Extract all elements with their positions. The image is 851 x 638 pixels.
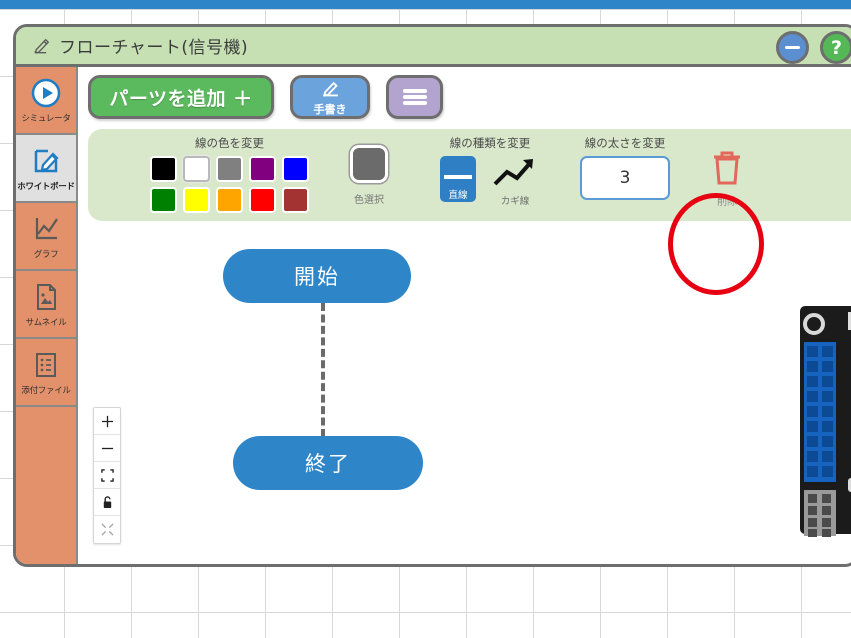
color-swatch-white[interactable] bbox=[183, 156, 210, 182]
color-swatch-grid bbox=[150, 156, 309, 213]
flow-node-label: 終了 bbox=[305, 448, 351, 478]
connector-line[interactable] bbox=[321, 303, 325, 437]
straight-line-label: 直線 bbox=[440, 187, 476, 201]
minus-icon bbox=[101, 442, 114, 455]
line-chart-icon bbox=[29, 212, 63, 246]
line-thickness-group: 線の太さを変更 3 bbox=[580, 135, 670, 200]
pencil-icon bbox=[32, 36, 52, 56]
line-color-group: 線の色を変更 bbox=[150, 135, 309, 213]
sidebar-item-label: 添付ファイル bbox=[21, 384, 70, 396]
fit-to-view-button[interactable] bbox=[94, 462, 120, 489]
line-type-elbow-option[interactable]: カギ線 bbox=[490, 156, 540, 207]
window-body: シミュレータ ホワイトボード bbox=[16, 67, 851, 567]
color-picker-label: 色選択 bbox=[354, 191, 384, 206]
color-swatch-red[interactable] bbox=[249, 187, 276, 213]
color-swatch-orange[interactable] bbox=[216, 187, 243, 213]
sidebar-item-graph[interactable]: グラフ bbox=[16, 203, 76, 271]
lock-button[interactable] bbox=[94, 489, 120, 516]
flow-node-start[interactable]: 開始 bbox=[223, 249, 411, 303]
line-type-straight-option[interactable]: 直線 bbox=[440, 156, 476, 202]
line-thickness-title: 線の太さを変更 bbox=[580, 135, 670, 151]
menu-bar bbox=[403, 95, 427, 99]
color-swatch-row bbox=[150, 156, 309, 182]
flow-node-end[interactable]: 終了 bbox=[233, 436, 423, 490]
minimize-button[interactable] bbox=[776, 31, 809, 64]
color-swatch-yellow[interactable] bbox=[183, 187, 210, 213]
sidebar-item-whiteboard[interactable]: ホワイトボード bbox=[16, 135, 76, 203]
expand-frame-icon bbox=[101, 469, 114, 482]
elbow-line-label: カギ線 bbox=[490, 193, 540, 207]
sidebar-item-simulator[interactable]: シミュレータ bbox=[16, 67, 76, 135]
color-swatch-gray[interactable] bbox=[216, 156, 243, 182]
title-bar: フローチャート(信号機) ? bbox=[16, 27, 851, 67]
sidebar-item-label: グラフ bbox=[34, 248, 59, 260]
sidebar-filler bbox=[16, 407, 76, 567]
hamburger-menu-icon[interactable] bbox=[386, 75, 443, 119]
top-toolbar: パーツを追加 ＋ 手書き bbox=[88, 75, 443, 119]
add-parts-label: パーツを追加 ＋ bbox=[109, 84, 252, 111]
sidebar-item-label: サムネイル bbox=[26, 316, 67, 328]
menu-bar bbox=[403, 101, 427, 105]
whiteboard-pencil-icon bbox=[29, 144, 63, 178]
collapse-button[interactable] bbox=[94, 516, 120, 543]
elbow-line-icon bbox=[493, 173, 537, 192]
whiteboard-content-area: 開始 終了 bbox=[78, 67, 851, 567]
color-swatch-blue[interactable] bbox=[282, 156, 309, 182]
line-thickness-input[interactable]: 3 bbox=[580, 156, 670, 200]
page-title: フローチャート(信号機) bbox=[59, 33, 248, 58]
line-type-title: 線の種類を変更 bbox=[440, 135, 540, 151]
list-file-icon bbox=[29, 348, 63, 382]
zoom-controls bbox=[93, 407, 121, 544]
sidebar-item-attachments[interactable]: 添付ファイル bbox=[16, 339, 76, 407]
line-type-options: 直線 カギ線 bbox=[440, 156, 540, 207]
zoom-in-button[interactable] bbox=[94, 408, 120, 435]
add-parts-button[interactable]: パーツを追加 ＋ bbox=[88, 75, 274, 119]
menu-bar bbox=[403, 89, 427, 93]
color-picker-button[interactable] bbox=[350, 145, 388, 183]
delete-button[interactable]: 削除 bbox=[700, 147, 754, 208]
trash-icon bbox=[708, 172, 746, 191]
top-blue-bar bbox=[0, 0, 851, 9]
line-type-group: 線の種類を変更 直線 bbox=[440, 135, 540, 207]
image-file-icon bbox=[29, 280, 63, 314]
help-button[interactable]: ? bbox=[820, 31, 851, 64]
zoom-out-button[interactable] bbox=[94, 435, 120, 462]
color-swatch-green[interactable] bbox=[150, 187, 177, 213]
sidebar-item-label: ホワイトボード bbox=[17, 180, 74, 192]
sidebar-item-label: シミュレータ bbox=[21, 112, 70, 124]
color-swatch-row bbox=[150, 187, 309, 213]
delete-label: 削除 bbox=[700, 193, 754, 208]
handwrite-button[interactable]: 手書き bbox=[290, 75, 370, 119]
sidebar-item-thumbnail[interactable]: サムネイル bbox=[16, 271, 76, 339]
line-color-title: 線の色を変更 bbox=[150, 135, 309, 151]
color-swatch-darkred[interactable] bbox=[282, 187, 309, 213]
play-circle-icon bbox=[29, 76, 63, 110]
minus-icon bbox=[785, 46, 800, 49]
plus-icon bbox=[101, 415, 114, 428]
straight-line-icon bbox=[444, 175, 472, 179]
collapse-arrows-icon bbox=[101, 523, 114, 536]
color-picker-group: 色選択 bbox=[350, 145, 388, 206]
flow-node-label: 開始 bbox=[294, 261, 340, 291]
question-mark-icon: ? bbox=[831, 37, 842, 59]
lock-icon bbox=[101, 495, 114, 509]
sidebar: シミュレータ ホワイトボード bbox=[16, 67, 78, 567]
color-swatch-purple[interactable] bbox=[249, 156, 276, 182]
color-swatch-black[interactable] bbox=[150, 156, 177, 182]
line-style-panel: 線の色を変更 bbox=[88, 129, 851, 221]
microcontroller-board-image bbox=[796, 300, 851, 540]
app-window: フローチャート(信号機) ? シミュレータ bbox=[13, 24, 851, 567]
handwrite-label: 手書き bbox=[314, 101, 347, 117]
